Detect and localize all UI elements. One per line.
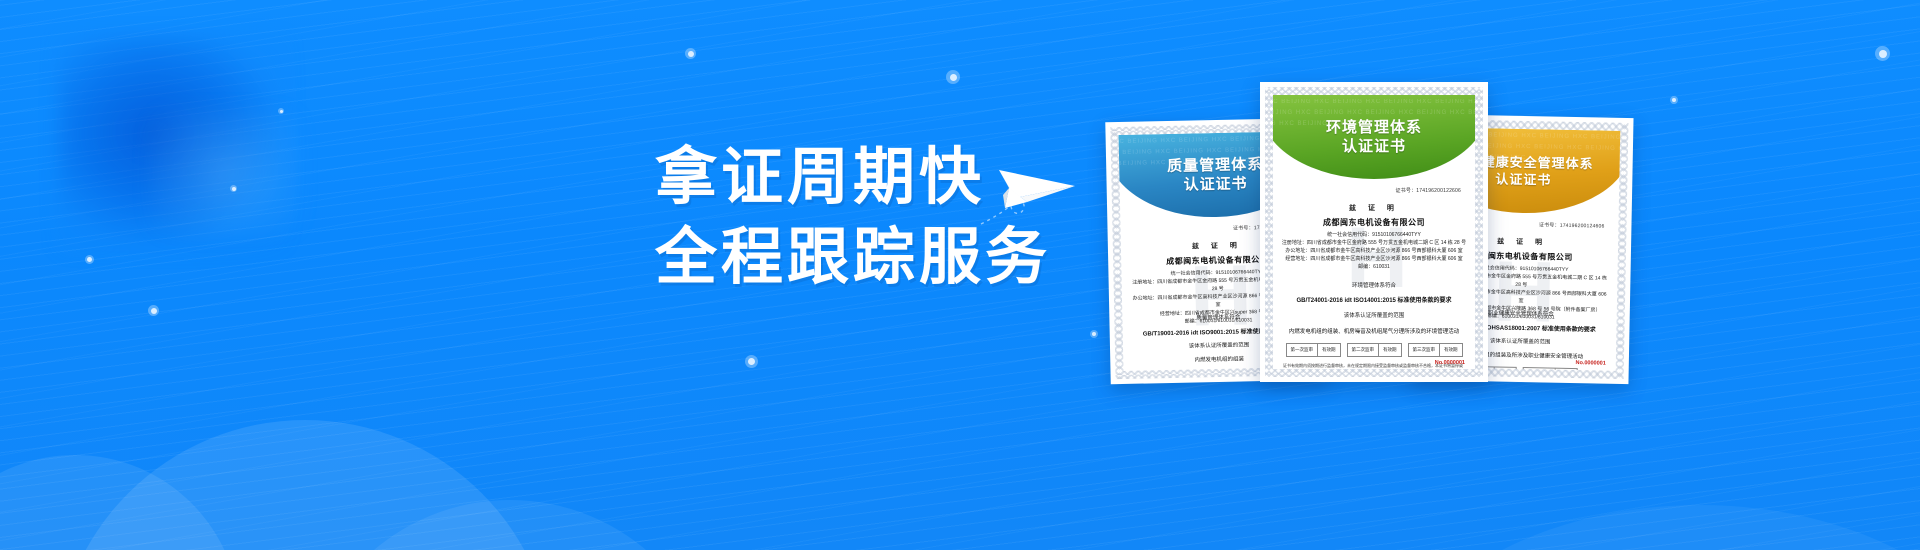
address-3: 经营地址：四川省成都市金牛区高科技产业区沙河源 866 号西部银科大厦 606 … bbox=[1281, 255, 1467, 263]
dot-core bbox=[688, 51, 694, 57]
ring-dot-2-icon bbox=[230, 185, 237, 192]
ring-dot-7-icon bbox=[946, 70, 960, 84]
certificate-number: 证书号：174196200124606 bbox=[1539, 221, 1605, 229]
certificate-title-line-2: 认证证书 bbox=[1495, 170, 1551, 188]
audit-box: 第一次监审有效期 bbox=[1286, 343, 1341, 357]
ring-dot-8-icon bbox=[1090, 330, 1098, 338]
certification-banner: 拿证周期快 全程跟踪服务 HXC BEIJING HXC BEIJING HXC… bbox=[0, 0, 1920, 550]
certificate-number: 证书号：174196200122606 bbox=[1395, 187, 1461, 194]
ring-dot-5-icon bbox=[685, 48, 696, 59]
background-light-blob bbox=[150, 110, 300, 235]
ring-dot-4-icon bbox=[278, 108, 284, 114]
scope-label: 该体系认证所覆盖的范围 bbox=[1273, 311, 1475, 319]
certifies-label: 兹 证 明 bbox=[1273, 203, 1475, 213]
certificate-title-line-1: 环境管理体系 bbox=[1326, 118, 1422, 137]
certificate-header: HXC BEIJING HXC BEIJING HXC BEIJING HXC … bbox=[1273, 95, 1475, 179]
audit-box: 第三次监审有效期 bbox=[1408, 343, 1463, 357]
address-1: 注册地址：四川省成都市金牛区金府路 555 号万贯五金机电城二期 C 区 14 … bbox=[1281, 239, 1467, 247]
company-name: 成都闽东电机设备有限公司 bbox=[1273, 217, 1475, 228]
ring-dot-6-icon bbox=[745, 355, 758, 368]
certificate-title-line-1: 质量管理体系 bbox=[1167, 155, 1263, 176]
dot-core bbox=[87, 257, 92, 262]
dot-core bbox=[151, 308, 157, 314]
ring-dot-11-icon bbox=[1875, 46, 1890, 61]
certificate-body: HXC BEIJING HXC BEIJING HXC BEIJING HXC … bbox=[1273, 95, 1475, 369]
certificate-title-line-2: 认证证书 bbox=[1183, 174, 1247, 194]
system-label: 环境管理体系符合 bbox=[1273, 281, 1475, 289]
certificate-stack: HXC BEIJING HXC BEIJING HXC BEIJING HXC … bbox=[1108, 82, 1920, 402]
ring-dot-1-icon bbox=[85, 255, 94, 264]
certificate-title-line-2: 认证证书 bbox=[1342, 137, 1406, 156]
credit-code: 统一社会信用代码：91510106766440TYY bbox=[1281, 231, 1467, 239]
dot-core bbox=[1879, 50, 1887, 58]
certificate-environment[interactable]: HXC BEIJING HXC BEIJING HXC BEIJING HXC … bbox=[1260, 82, 1488, 382]
certificate-serial: No.0000001 bbox=[1435, 360, 1465, 366]
dot-core bbox=[232, 187, 236, 191]
paper-plane-icon bbox=[975, 158, 1095, 238]
audit-boxes: 第一次监审有效期 第二次监审有效期 第三次监审有效期 bbox=[1283, 343, 1465, 357]
standard-ref: GB/T24001-2016 idt ISO14001:2015 标准使用条款的… bbox=[1279, 295, 1469, 304]
dot-core bbox=[748, 358, 755, 365]
scope-text: 内燃发电机组的组装、机房噪音及机组尾气分理所涉及的环境管理活动 bbox=[1281, 327, 1467, 335]
postcode: 邮编：610031 bbox=[1281, 263, 1467, 271]
dot-core bbox=[950, 74, 957, 81]
audit-box: 第二次监审有效期 bbox=[1347, 343, 1402, 357]
ring-dot-3-icon bbox=[148, 305, 159, 316]
company-details: 统一社会信用代码：91510106766440TYY 注册地址：四川省成都市金牛… bbox=[1281, 231, 1467, 271]
certificate-serial: No.0000001 bbox=[1575, 360, 1605, 367]
dot-core bbox=[1092, 332, 1096, 336]
address-2: 办公地址：四川省成都市金牛区高科技产业区沙河源 866 号西部银科大厦 606 … bbox=[1281, 247, 1467, 255]
dot-core bbox=[280, 110, 283, 113]
